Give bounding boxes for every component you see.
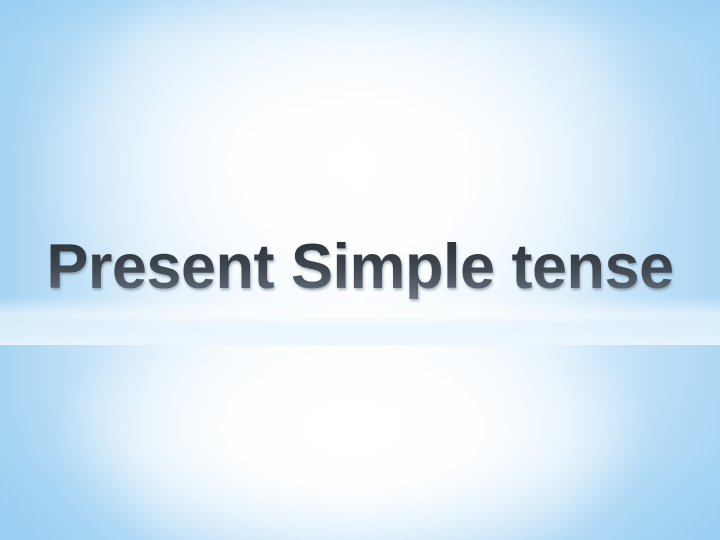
background-base-gradient bbox=[0, 0, 720, 540]
background-vertical-tint bbox=[0, 0, 720, 540]
background-horizon-band bbox=[0, 296, 720, 342]
slide-title-reflection-block: Present Simple tense bbox=[0, 303, 720, 343]
presentation-slide: Present Simple tense Present Simple tens… bbox=[0, 0, 720, 540]
background-lower-glow bbox=[0, 0, 720, 540]
reflection-fade-overlay bbox=[0, 303, 720, 345]
background-upper-glow bbox=[0, 0, 720, 540]
slide-title-block: Present Simple tense bbox=[0, 236, 720, 299]
slide-title: Present Simple tense bbox=[46, 236, 673, 299]
background-corner-vignette bbox=[0, 0, 720, 540]
